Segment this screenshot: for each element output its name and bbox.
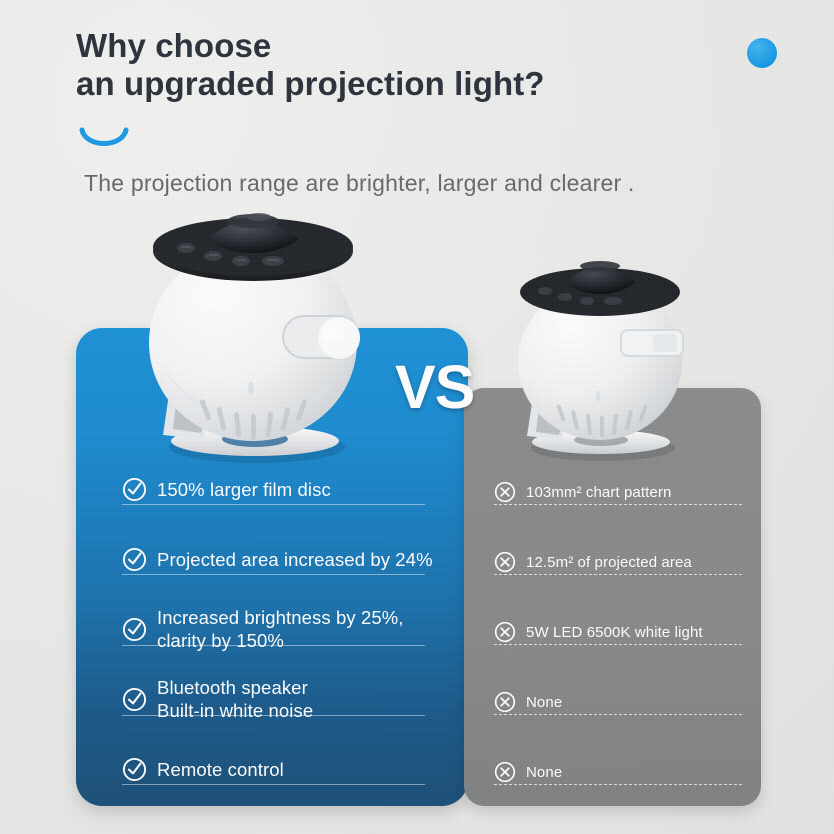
list-item[interactable]: None (494, 761, 746, 783)
list-item-label: Projected area increased by 24% (157, 548, 433, 571)
list-item[interactable]: 12.5m² of projected area (494, 551, 746, 573)
list-item-label: 5W LED 6500K white light (526, 623, 703, 642)
list-item[interactable]: 150% larger film disc (122, 477, 440, 502)
x-circle-icon (494, 761, 516, 783)
page-subtitle: The projection range are brighter, large… (84, 168, 814, 198)
page-title-line-2: an upgraded projection light? (76, 65, 636, 103)
page-title: Why choose an upgraded projection light? (76, 27, 636, 103)
check-circle-icon (122, 617, 147, 642)
list-item-label: 12.5m² of projected area (526, 553, 692, 572)
infographic-canvas: Why choose an upgraded projection light?… (0, 0, 834, 834)
list-item-label-line-1: Increased brightness by 25%, (157, 606, 404, 629)
list-item[interactable]: Projected area increased by 24% (122, 547, 440, 572)
versus-label: VS (395, 352, 474, 422)
list-item-label: 103mm² chart pattern (526, 483, 671, 502)
list-item[interactable]: None (494, 691, 746, 713)
check-circle-icon (122, 477, 147, 502)
page-title-line-1: Why choose (76, 27, 636, 65)
list-item[interactable]: 5W LED 6500K white light (494, 621, 746, 643)
list-item-label: None (526, 693, 562, 712)
list-item[interactable]: 103mm² chart pattern (494, 481, 746, 503)
decorative-dots (747, 38, 793, 88)
list-item-label: None (526, 763, 562, 782)
divider (494, 504, 742, 505)
x-circle-icon (494, 691, 516, 713)
list-item-label-line-1: Bluetooth speaker (157, 676, 313, 699)
divider (122, 645, 425, 646)
list-item-label-line-2: Built-in white noise (157, 699, 313, 722)
standard-feature-list: 103mm² chart pattern 12.5m² of projected… (464, 388, 761, 806)
divider (494, 574, 742, 575)
divider (122, 715, 425, 716)
list-item-label: 150% larger film disc (157, 478, 331, 501)
divider (494, 784, 742, 785)
divider (122, 784, 425, 785)
list-item[interactable]: Remote control (122, 757, 440, 782)
divider (494, 644, 742, 645)
x-circle-icon (494, 621, 516, 643)
divider (122, 504, 425, 505)
x-circle-icon (494, 481, 516, 503)
x-circle-icon (494, 551, 516, 573)
list-item-label: Remote control (157, 758, 284, 781)
blue-dot-icon (747, 38, 777, 68)
check-circle-icon (122, 687, 147, 712)
check-circle-icon (122, 757, 147, 782)
check-circle-icon (122, 547, 147, 572)
list-item-label-line-2: clarity by 150% (157, 629, 404, 652)
smile-underline-icon (78, 126, 130, 154)
divider (122, 574, 425, 575)
divider (494, 714, 742, 715)
